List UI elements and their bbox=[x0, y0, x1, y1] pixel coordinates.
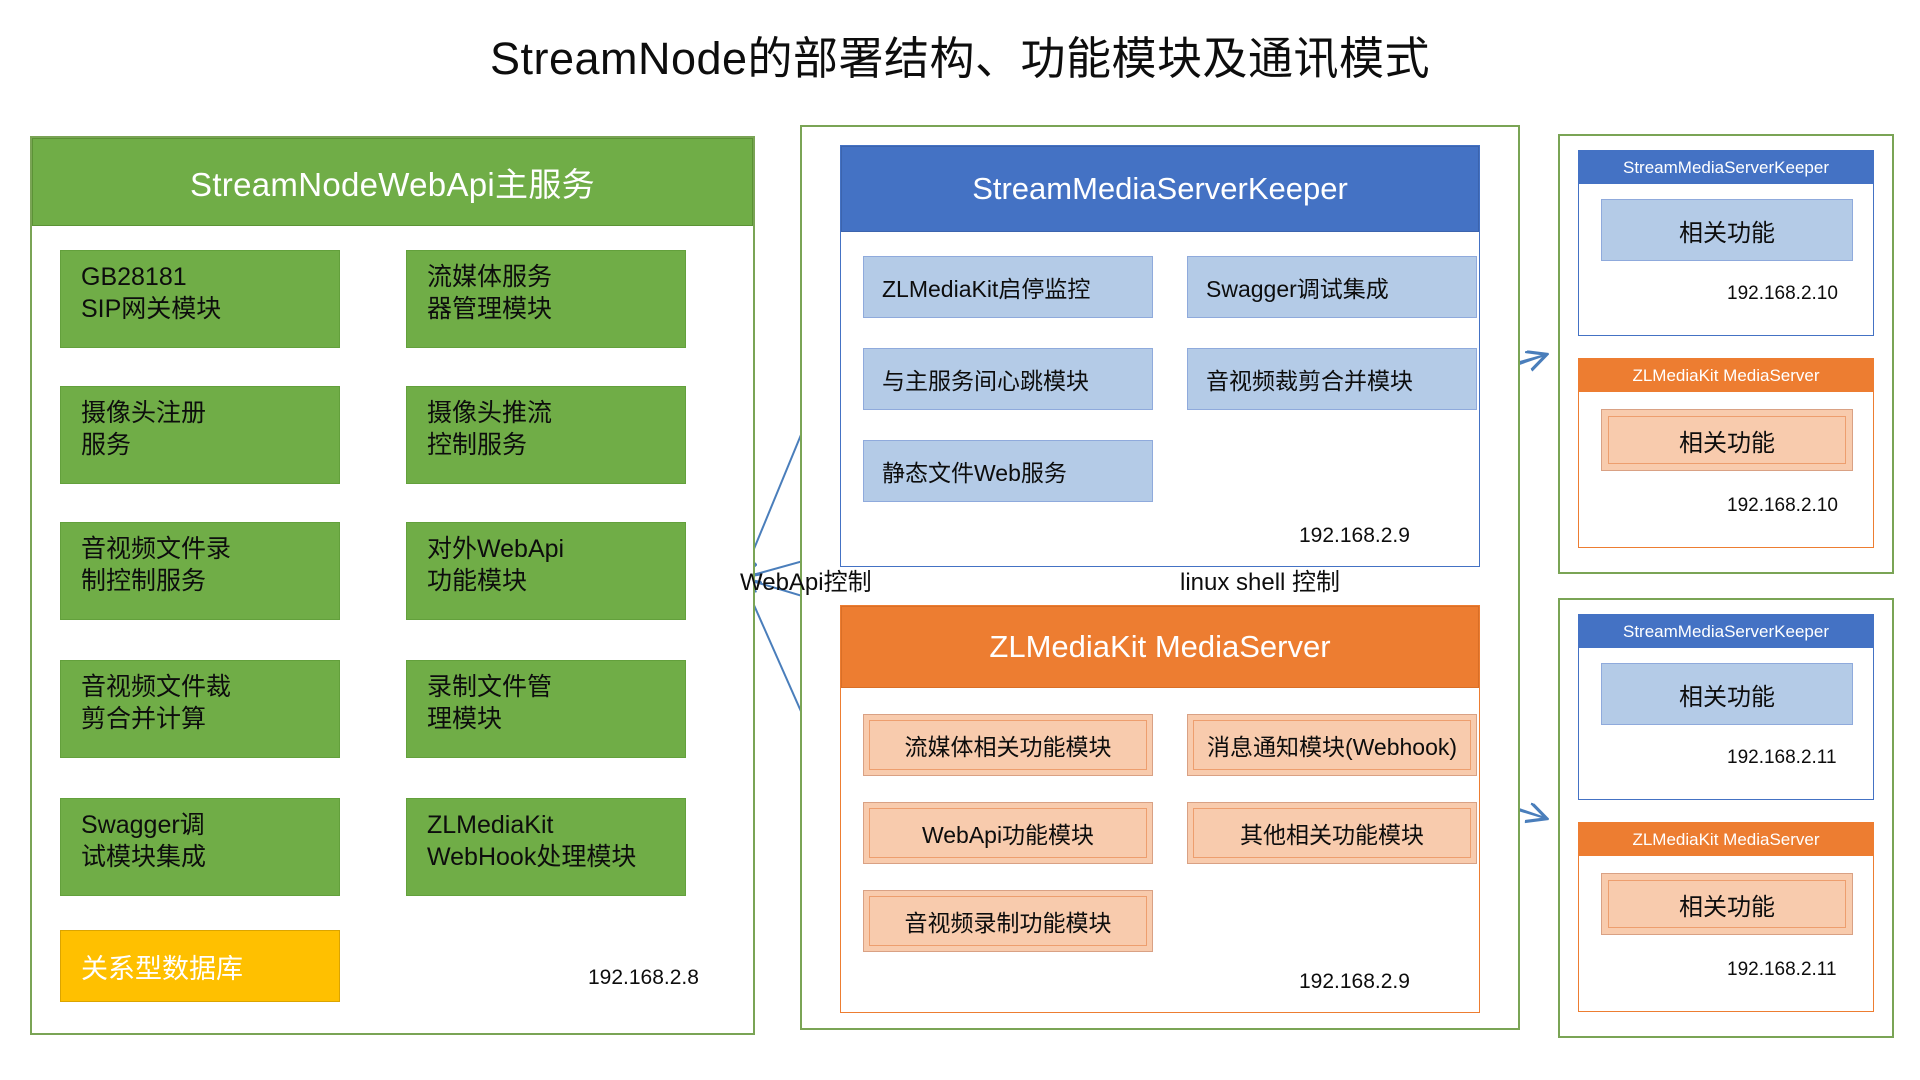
keeper-module-swagger[interactable]: Swagger调试集成 bbox=[1187, 256, 1477, 318]
node1-mediaserver-header: ZLMediaKit MediaServer bbox=[1579, 359, 1873, 392]
mediaserver-module-stream[interactable]: 流媒体相关功能模块 bbox=[863, 714, 1153, 776]
node1-keeper-ip: 192.168.2.10 bbox=[1727, 283, 1838, 305]
mediaserver-module-webapi[interactable]: WebApi功能模块 bbox=[863, 802, 1153, 864]
right-node-2-frame: StreamMediaServerKeeper 相关功能 192.168.2.1… bbox=[1558, 598, 1894, 1038]
left-panel-header: StreamNodeWebApi主服务 bbox=[32, 138, 753, 226]
module-gb28181-sip[interactable]: GB28181 SIP网关模块 bbox=[60, 250, 340, 348]
keeper-card-ip: 192.168.2.9 bbox=[1299, 524, 1410, 548]
keeper-module-heartbeat[interactable]: 与主服务间心跳模块 bbox=[863, 348, 1153, 410]
mediaserver-module-webapi-label: WebApi功能模块 bbox=[869, 808, 1147, 858]
node1-keeper-card: StreamMediaServerKeeper 相关功能 192.168.2.1… bbox=[1578, 150, 1874, 336]
node2-keeper-module[interactable]: 相关功能 bbox=[1601, 663, 1853, 725]
module-camera-push-control[interactable]: 摄像头推流 控制服务 bbox=[406, 386, 686, 484]
left-panel-frame: StreamNodeWebApi主服务 GB28181 SIP网关模块 流媒体服… bbox=[30, 136, 755, 1035]
node2-keeper-header: StreamMediaServerKeeper bbox=[1579, 615, 1873, 648]
left-panel-ip: 192.168.2.8 bbox=[588, 966, 699, 990]
module-relational-database[interactable]: 关系型数据库 bbox=[60, 930, 340, 1002]
module-media-server-manage[interactable]: 流媒体服务 器管理模块 bbox=[406, 250, 686, 348]
page-title: StreamNode的部署结构、功能模块及通讯模式 bbox=[0, 22, 1920, 87]
mediaserver-module-stream-label: 流媒体相关功能模块 bbox=[869, 720, 1147, 770]
module-external-webapi[interactable]: 对外WebApi 功能模块 bbox=[406, 522, 686, 620]
module-av-cut-merge[interactable]: 音视频文件裁 剪合并计算 bbox=[60, 660, 340, 758]
mediaserver-module-other-label: 其他相关功能模块 bbox=[1193, 808, 1471, 858]
node1-keeper-module[interactable]: 相关功能 bbox=[1601, 199, 1853, 261]
mediaserver-card: ZLMediaKit MediaServer 流媒体相关功能模块 消息通知模块(… bbox=[840, 605, 1480, 1013]
mediaserver-card-header: ZLMediaKit MediaServer bbox=[841, 606, 1479, 688]
node2-mediaserver-card: ZLMediaKit MediaServer 相关功能 192.168.2.11 bbox=[1578, 822, 1874, 1012]
keeper-card: StreamMediaServerKeeper ZLMediaKit启停监控 S… bbox=[840, 145, 1480, 567]
middle-group-frame: StreamMediaServerKeeper ZLMediaKit启停监控 S… bbox=[800, 125, 1520, 1030]
module-swagger-debug[interactable]: Swagger调 试模块集成 bbox=[60, 798, 340, 896]
module-zlmediakit-webhook[interactable]: ZLMediaKit WebHook处理模块 bbox=[406, 798, 686, 896]
mediaserver-module-webhook-label: 消息通知模块(Webhook) bbox=[1193, 720, 1471, 770]
keeper-module-static-web[interactable]: 静态文件Web服务 bbox=[863, 440, 1153, 502]
node2-mediaserver-module[interactable]: 相关功能 bbox=[1601, 873, 1853, 935]
mediaserver-module-webhook[interactable]: 消息通知模块(Webhook) bbox=[1187, 714, 1477, 776]
keeper-module-startstop-monitor[interactable]: ZLMediaKit启停监控 bbox=[863, 256, 1153, 318]
mediaserver-module-record[interactable]: 音视频录制功能模块 bbox=[863, 890, 1153, 952]
node2-mediaserver-header: ZLMediaKit MediaServer bbox=[1579, 823, 1873, 856]
keeper-module-av-cut-merge[interactable]: 音视频裁剪合并模块 bbox=[1187, 348, 1477, 410]
module-record-file-manage[interactable]: 录制文件管 理模块 bbox=[406, 660, 686, 758]
node1-keeper-header: StreamMediaServerKeeper bbox=[1579, 151, 1873, 184]
mediaserver-module-other[interactable]: 其他相关功能模块 bbox=[1187, 802, 1477, 864]
node1-mediaserver-module[interactable]: 相关功能 bbox=[1601, 409, 1853, 471]
keeper-card-header: StreamMediaServerKeeper bbox=[841, 146, 1479, 232]
node2-mediaserver-module-label: 相关功能 bbox=[1608, 880, 1846, 928]
right-node-1-frame: StreamMediaServerKeeper 相关功能 192.168.2.1… bbox=[1558, 134, 1894, 574]
node1-mediaserver-card: ZLMediaKit MediaServer 相关功能 192.168.2.10 bbox=[1578, 358, 1874, 548]
module-camera-register[interactable]: 摄像头注册 服务 bbox=[60, 386, 340, 484]
node2-mediaserver-ip: 192.168.2.11 bbox=[1727, 959, 1837, 981]
module-av-record-control[interactable]: 音视频文件录 制控制服务 bbox=[60, 522, 340, 620]
connector-label-webapi: WebApi控制 bbox=[740, 562, 872, 597]
connector-label-shell: linux shell 控制 bbox=[1180, 562, 1340, 597]
node1-mediaserver-module-label: 相关功能 bbox=[1608, 416, 1846, 464]
node1-mediaserver-ip: 192.168.2.10 bbox=[1727, 495, 1838, 517]
mediaserver-module-record-label: 音视频录制功能模块 bbox=[869, 896, 1147, 946]
node2-keeper-card: StreamMediaServerKeeper 相关功能 192.168.2.1… bbox=[1578, 614, 1874, 800]
node2-keeper-ip: 192.168.2.11 bbox=[1727, 747, 1837, 769]
diagram-canvas: StreamNode的部署结构、功能模块及通讯模式 bbox=[0, 0, 1920, 1080]
mediaserver-card-ip: 192.168.2.9 bbox=[1299, 970, 1410, 994]
left-panel-module-grid: GB28181 SIP网关模块 流媒体服务 器管理模块 摄像头注册 服务 摄像头… bbox=[32, 226, 753, 1033]
